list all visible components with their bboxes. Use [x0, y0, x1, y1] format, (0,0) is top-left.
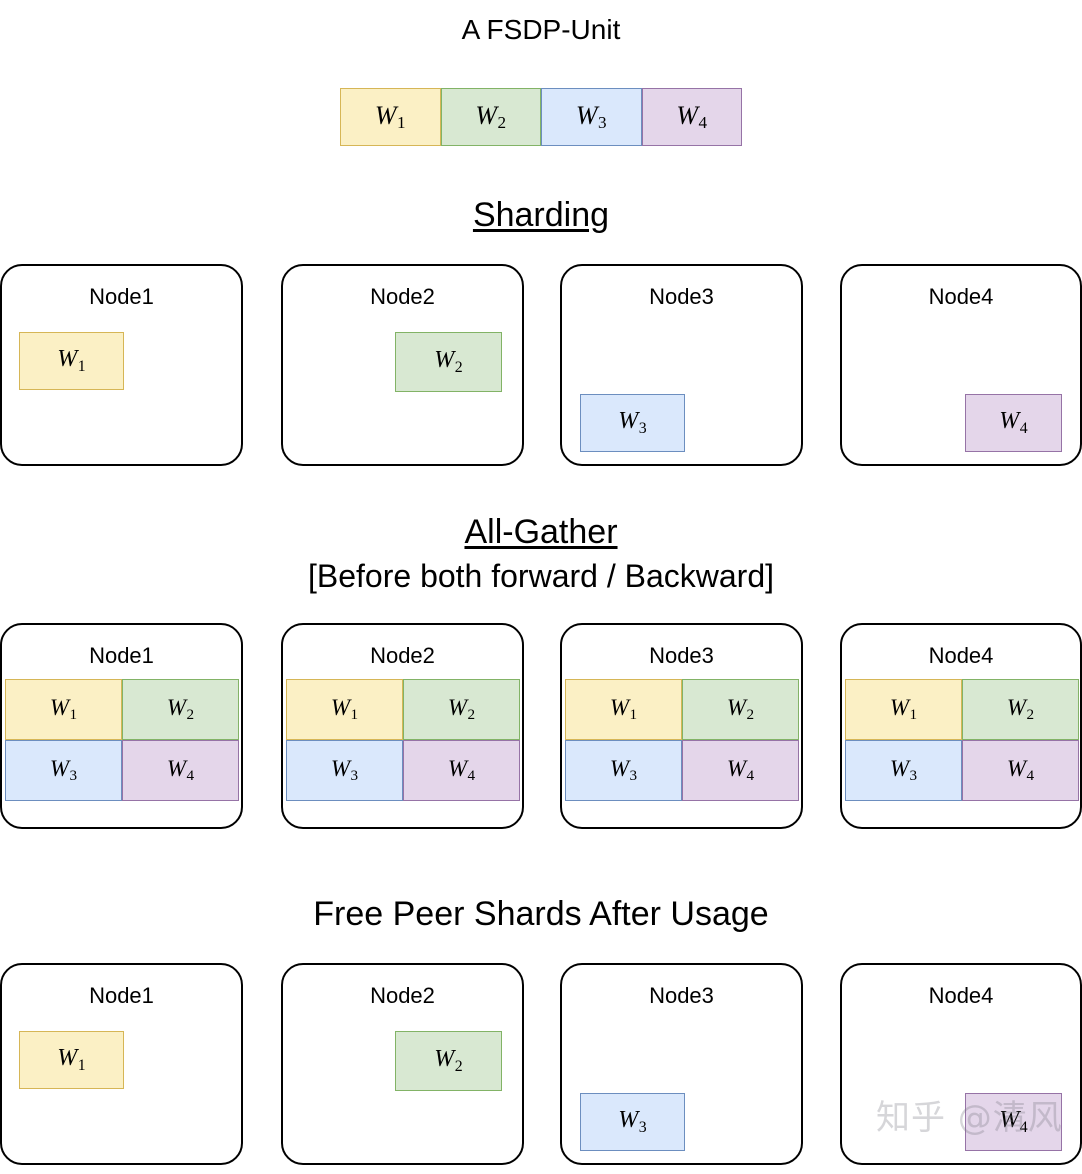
node-label: Node1	[2, 284, 241, 310]
unit-shard-w4: W4	[642, 88, 743, 146]
node-label: Node2	[283, 643, 522, 669]
section-heading-free-peer: Free Peer Shards After Usage	[0, 895, 1082, 933]
all-gather-node-4: Node4W1W2W3W4	[840, 623, 1082, 829]
unit-shard-w3: W3	[541, 88, 642, 146]
shard-w1: W1	[19, 1031, 124, 1089]
shard-w1: W1	[5, 679, 122, 740]
shard-w2: W2	[122, 679, 239, 740]
node-label: Node3	[562, 284, 801, 310]
shard-label: W2	[475, 101, 506, 134]
shard-w1: W1	[845, 679, 962, 740]
shard-label: W1	[50, 695, 77, 724]
sharding-node-1: Node1W1	[0, 264, 243, 466]
shard-label: W1	[331, 695, 358, 724]
shard-w1: W1	[565, 679, 682, 740]
free-peer-node-3: Node3W3	[560, 963, 803, 1165]
gathered-shard-grid: W1W2W3W4	[5, 679, 239, 801]
node-label: Node1	[2, 643, 241, 669]
sharding-node-3: Node3W3	[560, 264, 803, 466]
shard-w4: W4	[682, 740, 799, 801]
shard-w3: W3	[286, 740, 403, 801]
all-gather-node-3: Node3W1W2W3W4	[560, 623, 803, 829]
shard-label: W2	[434, 1046, 462, 1075]
all-gather-node-1: Node1W1W2W3W4	[0, 623, 243, 829]
shard-label: W2	[434, 347, 462, 376]
shard-w3: W3	[565, 740, 682, 801]
shard-w1: W1	[286, 679, 403, 740]
shard-label: W2	[727, 695, 754, 724]
shard-label: W3	[576, 101, 607, 134]
shard-label: W4	[676, 101, 707, 134]
shard-label: W2	[1007, 695, 1034, 724]
gathered-shard-grid: W1W2W3W4	[286, 679, 520, 801]
free-peer-node-4: Node4W4	[840, 963, 1082, 1165]
shard-w3: W3	[580, 394, 685, 452]
node-label: Node4	[842, 983, 1080, 1009]
shard-label: W4	[999, 408, 1027, 437]
page-title: A FSDP-Unit	[0, 14, 1082, 45]
all-gather-node-2: Node2W1W2W3W4	[281, 623, 524, 829]
shard-w2: W2	[682, 679, 799, 740]
node-label: Node3	[562, 983, 801, 1009]
shard-label: W1	[57, 346, 85, 375]
node-label: Node4	[842, 284, 1080, 310]
shard-w3: W3	[845, 740, 962, 801]
node-label: Node4	[842, 643, 1080, 669]
section-subheading-all-gather: [Before both forward / Backward]	[0, 559, 1082, 595]
shard-w4: W4	[965, 394, 1062, 452]
shard-w2: W2	[395, 332, 502, 392]
sharding-node-2: Node2W2	[281, 264, 524, 466]
shard-label: W4	[167, 756, 194, 785]
shard-w1: W1	[19, 332, 124, 390]
free-peer-node-2: Node2W2	[281, 963, 524, 1165]
shard-w3: W3	[5, 740, 122, 801]
shard-label: W4	[999, 1107, 1027, 1136]
shard-label: W3	[618, 1107, 646, 1136]
shard-label: W1	[57, 1045, 85, 1074]
shard-w4: W4	[122, 740, 239, 801]
shard-label: W2	[448, 695, 475, 724]
shard-label: W3	[618, 408, 646, 437]
shard-w4: W4	[962, 740, 1079, 801]
shard-label: W3	[890, 756, 917, 785]
shard-w4: W4	[403, 740, 520, 801]
section-heading-sharding: Sharding	[0, 196, 1082, 234]
free-peer-node-1: Node1W1	[0, 963, 243, 1165]
diagram-canvas: A FSDP-Unit W1W2W3W4 Sharding Node1W1Nod…	[0, 0, 1082, 1174]
shard-w2: W2	[403, 679, 520, 740]
shard-w2: W2	[395, 1031, 502, 1091]
node-label: Node1	[2, 983, 241, 1009]
gathered-shard-grid: W1W2W3W4	[845, 679, 1079, 801]
shard-label: W4	[1007, 756, 1034, 785]
shard-w3: W3	[580, 1093, 685, 1151]
unit-shard-w1: W1	[340, 88, 441, 146]
shard-label: W1	[890, 695, 917, 724]
shard-label: W1	[610, 695, 637, 724]
shard-label: W3	[331, 756, 358, 785]
shard-label: W3	[50, 756, 77, 785]
node-label: Node2	[283, 983, 522, 1009]
node-label: Node2	[283, 284, 522, 310]
section-heading-all-gather: All-Gather	[0, 513, 1082, 551]
shard-w2: W2	[962, 679, 1079, 740]
node-label: Node3	[562, 643, 801, 669]
sharding-node-4: Node4W4	[840, 264, 1082, 466]
shard-label: W4	[727, 756, 754, 785]
gathered-shard-grid: W1W2W3W4	[565, 679, 799, 801]
shard-label: W1	[375, 101, 406, 134]
unit-shard-w2: W2	[441, 88, 542, 146]
shard-label: W4	[448, 756, 475, 785]
shard-w4: W4	[965, 1093, 1062, 1151]
fsdp-unit-bar: W1W2W3W4	[340, 88, 742, 146]
shard-label: W3	[610, 756, 637, 785]
shard-label: W2	[167, 695, 194, 724]
